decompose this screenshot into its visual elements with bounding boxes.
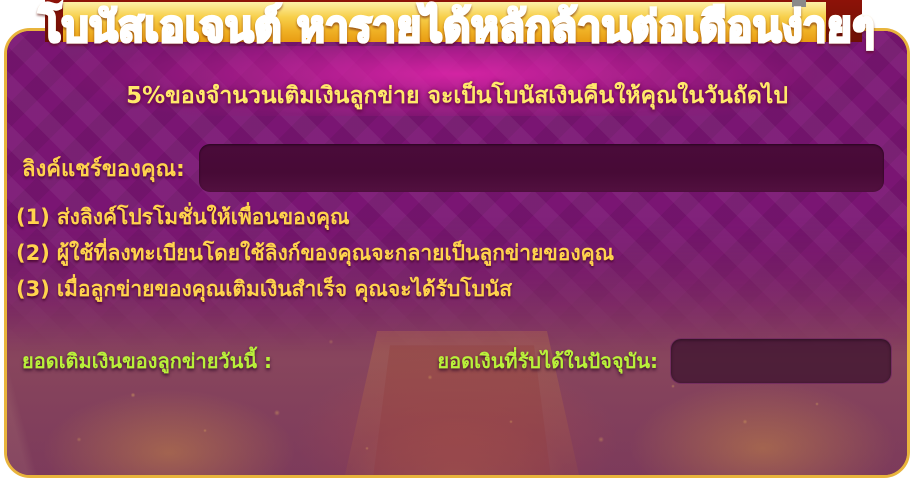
share-link-input[interactable] [199, 144, 884, 192]
list-item: (2) ผู้ใช้ที่ลงทะเบียนโดยใช้ลิงก์ของคุณจ… [16, 243, 896, 264]
step-number: (1) [16, 207, 50, 228]
step-number: (3) [16, 279, 50, 300]
step-number: (2) [16, 243, 50, 264]
balance-group: ยอดเงินที่รับได้ในปัจจุบัน: [437, 338, 892, 384]
promo-banner-root: โบนัสเอเจนต์ หารายได้หลักล้านต่อเดือนง่า… [0, 0, 914, 484]
today-total-group: ยอดเติมเงินของลูกข่ายวันนี้ : [22, 345, 292, 377]
totals-row: ยอดเติมเงินของลูกข่ายวันนี้ : ยอดเงินที่… [22, 338, 892, 384]
steps-list: (1) ส่งลิงค์โปรโมชั่นให้เพื่อนของคุณ (2)… [16, 207, 896, 315]
share-link-row: ลิงค์แชร์ของคุณ: [22, 144, 884, 192]
today-total-label: ยอดเติมเงินของลูกข่ายวันนี้ : [22, 345, 272, 377]
step-text: ผู้ใช้ที่ลงทะเบียนโดยใช้ลิงก์ของคุณจะกลา… [57, 243, 614, 264]
list-item: (3) เมื่อลูกข่ายของคุณเติมเงินสำเร็จ คุณ… [16, 279, 896, 300]
balance-input[interactable] [670, 338, 892, 384]
list-item: (1) ส่งลิงค์โปรโมชั่นให้เพื่อนของคุณ [16, 207, 896, 228]
step-text: เมื่อลูกข่ายของคุณเติมเงินสำเร็จ คุณจะได… [57, 279, 512, 300]
step-text: ส่งลิงค์โปรโมชั่นให้เพื่อนของคุณ [57, 207, 350, 228]
share-link-label: ลิงค์แชร์ของคุณ: [22, 151, 185, 186]
balance-label: ยอดเงินที่รับได้ในปัจจุบัน: [437, 345, 658, 377]
promo-content: ลิงค์แชร์ของคุณ: (1) ส่งลิงค์โปรโมชั่นให… [0, 0, 914, 484]
